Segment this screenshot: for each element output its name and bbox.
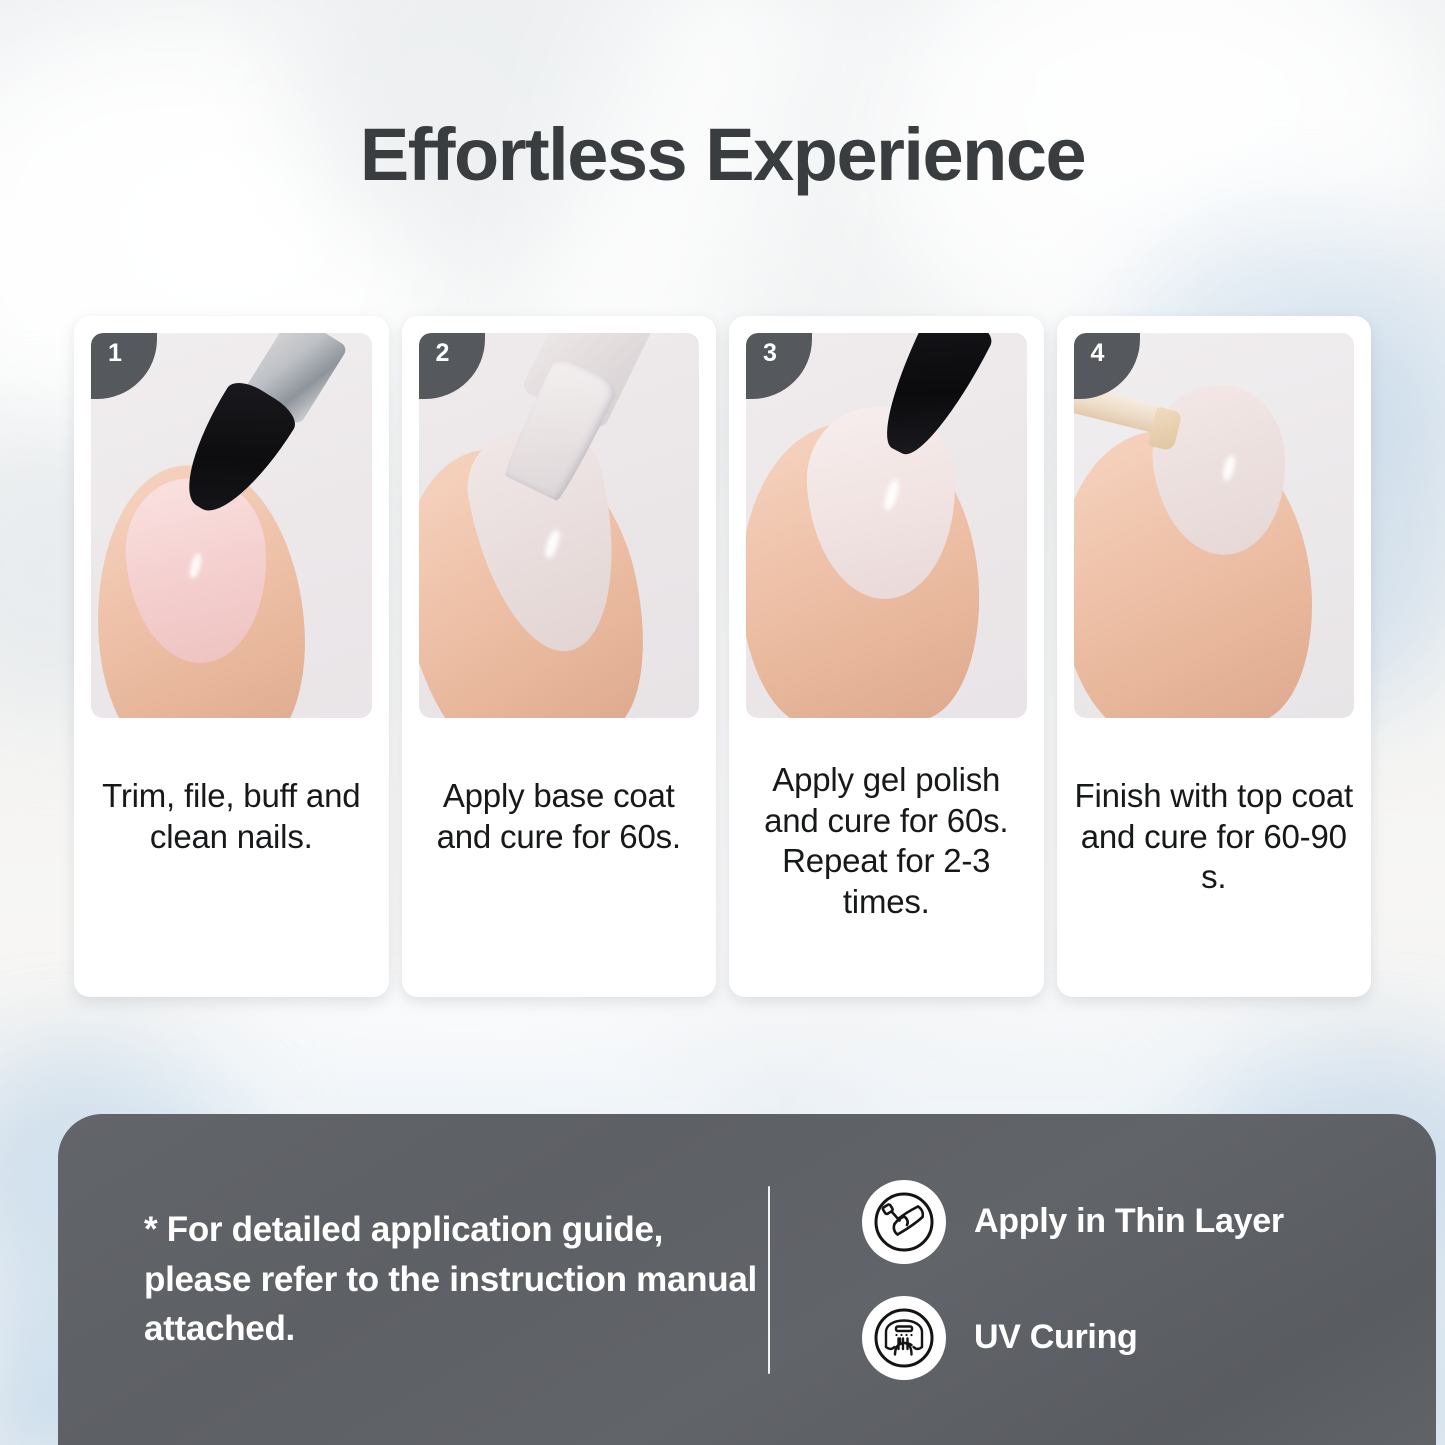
- footer-panel-content: * For detailed application guide, please…: [58, 1114, 1436, 1445]
- nail-illustration: [419, 333, 700, 718]
- footer-feature-list: Apply in Thin Layer: [770, 1180, 1436, 1380]
- step-photo: 3: [746, 333, 1027, 718]
- footer-panel: * For detailed application guide, please…: [58, 1114, 1436, 1445]
- step-caption: Trim, file, buff and clean nails.: [74, 718, 389, 997]
- step-caption: Apply gel polish and cure for 60s. Repea…: [729, 718, 1044, 997]
- page-title: Effortless Experience: [0, 112, 1445, 197]
- uv-lamp-icon: [862, 1296, 946, 1380]
- feature-item: Apply in Thin Layer: [862, 1180, 1436, 1264]
- feature-label: Apply in Thin Layer: [974, 1202, 1284, 1241]
- nail-illustration: [1074, 333, 1355, 718]
- steps-row: 1 Trim, file, buff and clean nails. 2 Ap…: [74, 316, 1371, 997]
- brush-thin-layer-icon: [862, 1180, 946, 1264]
- step-photo: 4: [1074, 333, 1355, 718]
- footer-divider: [768, 1186, 770, 1374]
- page-root: Effortless Experience 1 Trim, file, buff…: [0, 0, 1445, 1445]
- step-photo: 1: [91, 333, 372, 718]
- feature-label: UV Curing: [974, 1318, 1138, 1357]
- footer-note: * For detailed application guide, please…: [58, 1205, 758, 1354]
- nail-illustration: [746, 333, 1027, 718]
- step-caption: Apply base coat and cure for 60s.: [402, 718, 717, 997]
- step-caption: Finish with top coat and cure for 60-90 …: [1057, 718, 1372, 997]
- step-card: 1 Trim, file, buff and clean nails.: [74, 316, 389, 997]
- step-photo: 2: [419, 333, 700, 718]
- step-card: 2 Apply base coat and cure for 60s.: [402, 316, 717, 997]
- nail-illustration: [91, 333, 372, 718]
- feature-item: UV Curing: [862, 1296, 1436, 1380]
- step-card: 4 Finish with top coat and cure for 60-9…: [1057, 316, 1372, 997]
- step-card: 3 Apply gel polish and cure for 60s. Rep…: [729, 316, 1044, 997]
